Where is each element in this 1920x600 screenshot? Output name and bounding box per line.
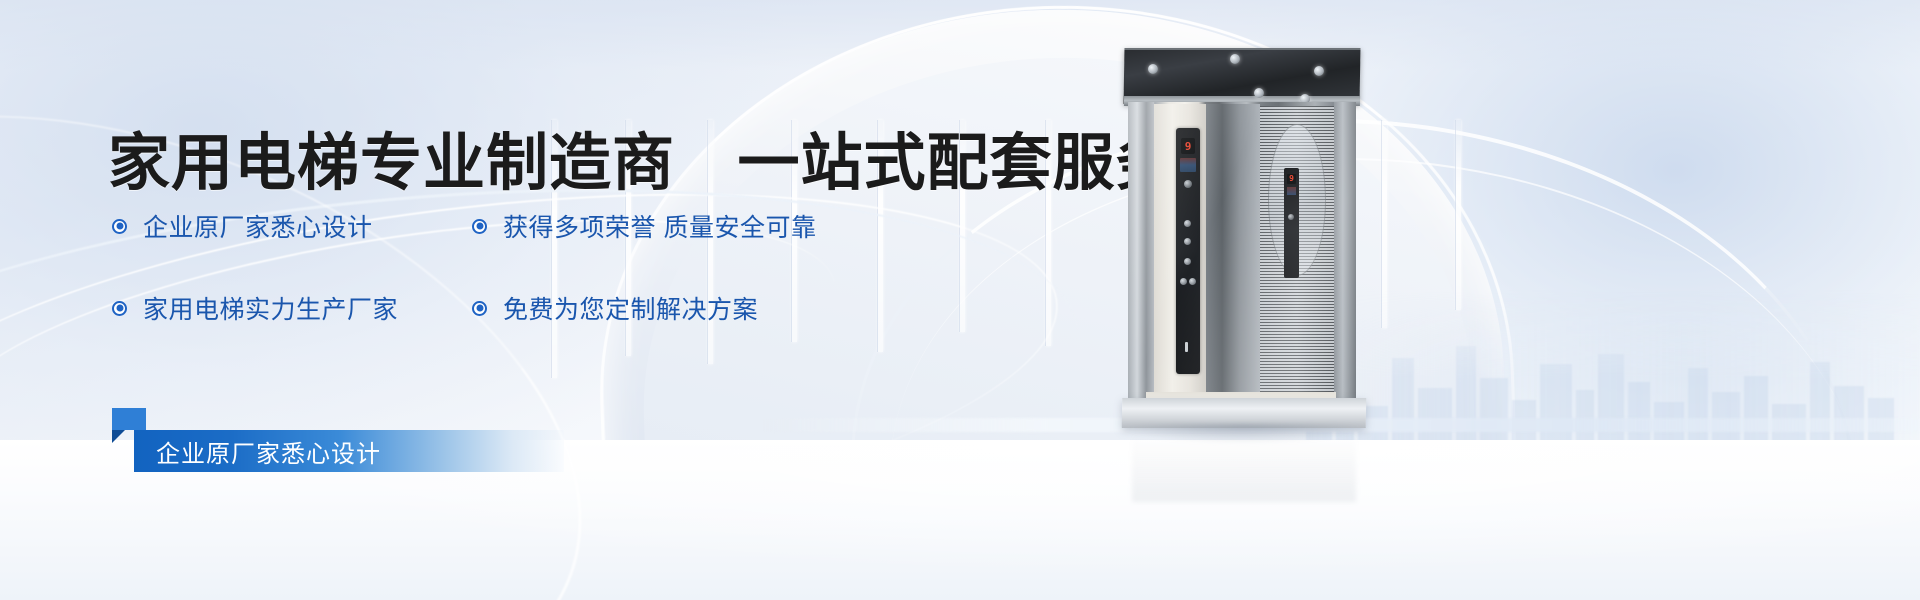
headline-line-primary: 家用电梯专业制造商: [108, 129, 675, 198]
feature-bullet-item-3: 家用电梯实力生产厂家: [112, 290, 472, 326]
banner-headline: 家用电梯专业制造商 一站式配套服务: [108, 112, 1179, 202]
elevator-right-jamb: [1334, 102, 1356, 402]
ribbon-label: 企业原厂家悉心设计: [156, 434, 381, 469]
elevator-floor-reflection: [1132, 432, 1356, 502]
feature-bullet-list: 企业原厂家悉心设计 获得多项荣誉 质量安全可靠 家用电梯实力生产厂家 免费为您定…: [112, 208, 972, 372]
floor-indicator-display: 9: [1181, 138, 1195, 154]
secondary-floor-indicator: 9: [1287, 174, 1296, 184]
ceiling-spotlight-icon: [1148, 64, 1158, 74]
feature-bullet-label: 免费为您定制解决方案: [503, 290, 758, 326]
hero-banner: 家用电梯专业制造商 一站式配套服务 企业原厂家悉心设计 获得多项荣誉 质量安全可…: [0, 0, 1920, 600]
elevator-product-image: 9 9: [1118, 40, 1368, 440]
floor-button-icon[interactable]: [1184, 258, 1191, 265]
ceiling-spotlight-icon: [1314, 66, 1324, 76]
secondary-speaker-icon: [1288, 214, 1294, 220]
door-close-button-icon[interactable]: [1189, 278, 1196, 285]
floor-button-icon[interactable]: [1184, 220, 1191, 227]
elevator-center-column: [1206, 104, 1260, 400]
banner-content: 家用电梯专业制造商 一站式配套服务 企业原厂家悉心设计 获得多项荣誉 质量安全可…: [0, 0, 1920, 600]
ribbon-bar: 企业原厂家悉心设计: [134, 430, 564, 472]
floor-number: 9: [1289, 175, 1294, 183]
elevator-secondary-panel: 9: [1284, 168, 1299, 278]
ribbon-fold-icon: [112, 408, 146, 430]
bullet-dot-icon: [112, 219, 127, 234]
feature-bullet-item-1: 企业原厂家悉心设计: [112, 208, 472, 244]
feature-bullet-item-2: 获得多项荣誉 质量安全可靠: [472, 208, 952, 244]
elevator-left-jamb: [1128, 102, 1154, 402]
floor-button-icon[interactable]: [1184, 238, 1191, 245]
feature-bullet-label: 企业原厂家悉心设计: [143, 208, 373, 244]
feature-bullet-item-4: 免费为您定制解决方案: [472, 290, 952, 326]
secondary-lcd-screen: [1287, 187, 1296, 195]
ceiling-spotlight-icon: [1230, 54, 1240, 64]
feature-bullet-row: 家用电梯实力生产厂家 免费为您定制解决方案: [112, 290, 972, 326]
panel-speaker-icon: [1184, 180, 1192, 188]
panel-lcd-screen: [1180, 158, 1196, 172]
elevator-control-panel: 9: [1176, 128, 1200, 374]
panel-key-slot-icon: [1185, 342, 1188, 352]
feature-bullet-label: 获得多项荣誉 质量安全可靠: [503, 208, 816, 244]
ceiling-spotlight-icon: [1254, 88, 1264, 98]
feature-bullet-row: 企业原厂家悉心设计 获得多项荣誉 质量安全可靠: [112, 208, 972, 244]
bullet-dot-icon: [472, 219, 487, 234]
door-open-button-icon[interactable]: [1180, 278, 1187, 285]
headline-line-secondary: 一站式配套服务: [737, 129, 1178, 198]
bullet-dot-icon: [472, 301, 487, 316]
bullet-dot-icon: [112, 301, 127, 316]
feature-bullet-label: 家用电梯实力生产厂家: [143, 290, 398, 326]
floor-number: 9: [1185, 141, 1192, 152]
